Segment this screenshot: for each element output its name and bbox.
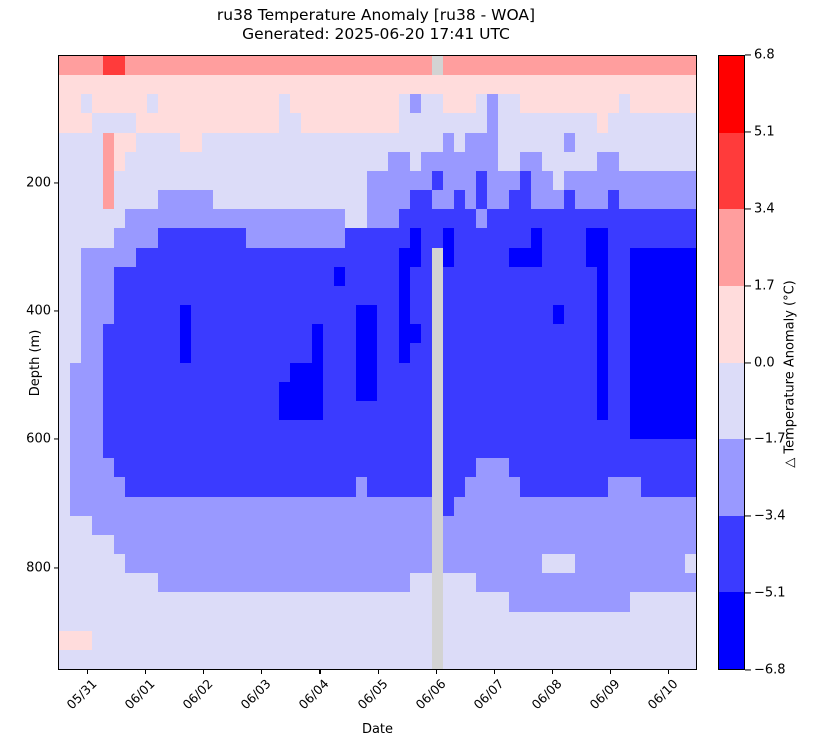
heatmap-cell	[114, 554, 125, 573]
heatmap-cell	[59, 477, 70, 496]
heatmap-cell	[180, 305, 191, 324]
heatmap-cell	[509, 113, 520, 132]
heatmap-cell	[476, 420, 487, 439]
heatmap-cell	[268, 343, 279, 362]
heatmap-cell	[103, 75, 114, 94]
heatmap-cell	[103, 113, 114, 132]
heatmap-cell	[432, 267, 443, 286]
heatmap-cell	[202, 650, 213, 669]
heatmap-cell	[92, 612, 103, 631]
heatmap-cell	[564, 305, 575, 324]
colorbar-band	[719, 209, 744, 286]
heatmap-cell	[630, 248, 641, 267]
heatmap-cell	[597, 439, 608, 458]
heatmap-cell	[388, 152, 399, 171]
heatmap-cell	[619, 458, 630, 477]
heatmap-cell	[531, 171, 542, 190]
heatmap-cell	[268, 612, 279, 631]
heatmap-cell	[147, 363, 158, 382]
heatmap-cell	[586, 439, 597, 458]
heatmap-cell	[290, 209, 301, 228]
heatmap-cell	[619, 267, 630, 286]
heatmap-cell	[575, 190, 586, 209]
heatmap-cell	[388, 228, 399, 247]
heatmap-cell	[147, 228, 158, 247]
heatmap-cell	[70, 228, 81, 247]
heatmap-cell	[213, 209, 224, 228]
heatmap-cell	[586, 592, 597, 611]
heatmap-cell	[630, 286, 641, 305]
heatmap-cell	[619, 75, 630, 94]
heatmap-cell	[685, 382, 696, 401]
colorbar-band	[719, 286, 744, 363]
heatmap-cell	[191, 305, 202, 324]
heatmap-cell	[279, 477, 290, 496]
heatmap-cell	[323, 267, 334, 286]
heatmap-cell	[356, 382, 367, 401]
heatmap-cell	[301, 209, 312, 228]
heatmap-cell	[158, 382, 169, 401]
heatmap-cell	[224, 477, 235, 496]
heatmap-cell	[279, 75, 290, 94]
heatmap-cell	[608, 113, 619, 132]
heatmap-cell	[674, 305, 685, 324]
heatmap-cell	[257, 152, 268, 171]
heatmap-cell	[575, 420, 586, 439]
heatmap-cell	[685, 209, 696, 228]
heatmap-cell	[136, 324, 147, 343]
x-tick-mark	[145, 670, 146, 674]
heatmap-cell	[663, 458, 674, 477]
heatmap-cell	[619, 439, 630, 458]
heatmap-cell	[246, 94, 257, 113]
heatmap-cell	[301, 94, 312, 113]
heatmap-cell	[608, 420, 619, 439]
heatmap-cell	[334, 363, 345, 382]
heatmap-cell	[564, 209, 575, 228]
heatmap-cell	[257, 497, 268, 516]
heatmap-cell	[279, 439, 290, 458]
heatmap-cell	[421, 209, 432, 228]
heatmap-cell	[257, 363, 268, 382]
heatmap-cell	[191, 535, 202, 554]
heatmap-cell	[279, 363, 290, 382]
heatmap-cell	[443, 305, 454, 324]
heatmap-cell	[356, 75, 367, 94]
heatmap-cell	[608, 75, 619, 94]
heatmap-cell	[652, 343, 663, 362]
heatmap-cell	[70, 56, 81, 75]
heatmap-cell	[487, 305, 498, 324]
heatmap-cell	[520, 573, 531, 592]
heatmap-cell	[498, 343, 509, 362]
heatmap-cell	[630, 113, 641, 132]
heatmap-cell	[345, 133, 356, 152]
heatmap-cell	[553, 592, 564, 611]
x-tick-label: 06/08	[521, 676, 564, 719]
heatmap-cell	[301, 612, 312, 631]
heatmap-cell	[421, 458, 432, 477]
heatmap-cell	[586, 420, 597, 439]
heatmap-cell	[191, 477, 202, 496]
heatmap-cell	[498, 228, 509, 247]
heatmap-cell	[586, 286, 597, 305]
heatmap-cell	[575, 458, 586, 477]
heatmap-cell	[652, 75, 663, 94]
heatmap-cell	[454, 650, 465, 669]
heatmap-cell	[246, 267, 257, 286]
heatmap-cell	[70, 267, 81, 286]
heatmap-cell	[388, 209, 399, 228]
heatmap-cell	[674, 401, 685, 420]
heatmap-cell	[509, 56, 520, 75]
heatmap-cell	[388, 592, 399, 611]
heatmap-cell	[641, 343, 652, 362]
heatmap-cell	[608, 573, 619, 592]
heatmap-cell	[345, 190, 356, 209]
heatmap-cell	[92, 286, 103, 305]
heatmap-cell	[81, 420, 92, 439]
heatmap-cell	[268, 75, 279, 94]
colorbar-tick-mark	[745, 516, 751, 517]
heatmap-cell	[586, 535, 597, 554]
colorbar-tick-mark	[745, 669, 751, 670]
heatmap-cell	[498, 497, 509, 516]
heatmap-cell	[268, 573, 279, 592]
heatmap-cell	[169, 401, 180, 420]
heatmap-cell	[564, 631, 575, 650]
heatmap-cell	[180, 324, 191, 343]
heatmap-cell	[224, 554, 235, 573]
heatmap-cell	[608, 209, 619, 228]
heatmap-cell	[575, 612, 586, 631]
heatmap-cell	[377, 75, 388, 94]
heatmap-cell	[257, 382, 268, 401]
x-tick-mark	[378, 670, 379, 674]
heatmap-cell	[356, 592, 367, 611]
heatmap-cell	[169, 56, 180, 75]
heatmap-cell	[235, 554, 246, 573]
heatmap-cell	[103, 382, 114, 401]
heatmap-cell	[312, 573, 323, 592]
heatmap-cell	[147, 56, 158, 75]
heatmap-cell	[564, 554, 575, 573]
heatmap-cell	[169, 439, 180, 458]
heatmap-cell	[191, 631, 202, 650]
heatmap-cell	[663, 190, 674, 209]
heatmap-cell	[641, 133, 652, 152]
heatmap-cell	[421, 363, 432, 382]
heatmap-cell	[597, 516, 608, 535]
heatmap-cell	[312, 324, 323, 343]
heatmap-cell	[202, 209, 213, 228]
heatmap-cell	[257, 75, 268, 94]
heatmap-cell	[81, 248, 92, 267]
heatmap-cell	[356, 228, 367, 247]
heatmap-cell	[356, 267, 367, 286]
colorbar-band	[719, 516, 744, 593]
heatmap-cell	[158, 477, 169, 496]
heatmap-cell	[487, 75, 498, 94]
heatmap-cell	[345, 75, 356, 94]
heatmap-cell	[213, 94, 224, 113]
heatmap-cell	[356, 439, 367, 458]
heatmap-cell	[377, 228, 388, 247]
heatmap-cell	[257, 113, 268, 132]
heatmap-cell	[564, 267, 575, 286]
colorbar[interactable]	[718, 55, 745, 670]
heatmap-cell	[476, 477, 487, 496]
heatmap-cell	[114, 458, 125, 477]
heatmap-cell	[377, 439, 388, 458]
heatmap-cell	[421, 420, 432, 439]
heatmap-cell	[652, 286, 663, 305]
heatmap-cell	[487, 171, 498, 190]
heatmap-cell	[367, 190, 378, 209]
heatmap-cell	[125, 152, 136, 171]
heatmap-cell	[564, 497, 575, 516]
heatmap-cell	[641, 477, 652, 496]
heatmap-cell	[520, 420, 531, 439]
colorbar-tick-label: 5.1	[754, 124, 775, 139]
heatmap-cell	[674, 420, 685, 439]
heatmap-cell	[301, 305, 312, 324]
heatmap-cell	[356, 171, 367, 190]
heatmap-cell	[279, 228, 290, 247]
heatmap-cell	[367, 56, 378, 75]
heatmap-cell	[345, 56, 356, 75]
heatmap-cell	[180, 56, 191, 75]
heatmap-cell	[70, 612, 81, 631]
heatmap-cell	[59, 324, 70, 343]
heatmap-cell	[356, 363, 367, 382]
heatmap-cell	[235, 267, 246, 286]
heatmap-cell	[312, 133, 323, 152]
heatmap-cell	[268, 650, 279, 669]
heatmap-cell	[114, 113, 125, 132]
heatmap-cell	[641, 56, 652, 75]
heatmap-cell	[279, 267, 290, 286]
heatmap-cell	[279, 209, 290, 228]
heatmap-cell	[290, 592, 301, 611]
heatmap-cell	[268, 535, 279, 554]
heatmap-cell	[520, 439, 531, 458]
heatmap-cell	[202, 171, 213, 190]
heatmap-cell	[630, 133, 641, 152]
heatmap-cell	[564, 248, 575, 267]
heatmap-cell	[224, 171, 235, 190]
heatmap-cell	[575, 382, 586, 401]
heatmap-cell	[81, 113, 92, 132]
heatmap-cell	[443, 267, 454, 286]
heatmap-cell	[377, 267, 388, 286]
heatmap-cell	[345, 458, 356, 477]
heatmap-cell	[191, 75, 202, 94]
heatmap-cell	[652, 612, 663, 631]
heatmap-cell	[268, 439, 279, 458]
heatmap-cell	[367, 535, 378, 554]
heatmap-cell	[158, 171, 169, 190]
heatmap-cell	[421, 554, 432, 573]
heatmap-cell	[59, 497, 70, 516]
heatmap-cell	[465, 650, 476, 669]
heatmap-cell	[356, 401, 367, 420]
heatmap-cell	[663, 248, 674, 267]
heatmap-cell	[345, 94, 356, 113]
heatmap-cell	[652, 592, 663, 611]
heatmap-cell	[641, 382, 652, 401]
heatmap-cell	[158, 535, 169, 554]
heatmap-cell	[114, 401, 125, 420]
heatmap-cell	[608, 171, 619, 190]
heatmap-cell	[169, 631, 180, 650]
heatmap-cell	[103, 573, 114, 592]
heatmap-cell	[169, 477, 180, 496]
heatmap-cell	[630, 631, 641, 650]
heatmap-cell	[553, 420, 564, 439]
heatmap-cell	[136, 363, 147, 382]
heatmap-cell	[487, 248, 498, 267]
heatmap-cell	[685, 439, 696, 458]
heatmap-cell	[432, 56, 443, 75]
heatmap-cell	[180, 631, 191, 650]
heatmap-cell	[147, 305, 158, 324]
heatmap-cell	[235, 477, 246, 496]
heatmap-cell	[377, 592, 388, 611]
heatmap-cell	[345, 248, 356, 267]
heatmap-cell	[487, 631, 498, 650]
heatmap-cell	[301, 382, 312, 401]
y-tick-label: 400	[5, 304, 51, 319]
heatmap-cell	[224, 56, 235, 75]
heatmap-cell	[180, 267, 191, 286]
heatmap-cell	[465, 75, 476, 94]
heatmap-cell	[663, 286, 674, 305]
heatmap-cell	[520, 631, 531, 650]
heatmap-cell	[421, 286, 432, 305]
heatmap-cell	[520, 286, 531, 305]
heatmap-cell	[323, 343, 334, 362]
heatmap-cell	[542, 382, 553, 401]
heatmap-cell	[125, 94, 136, 113]
heatmap-cell	[279, 612, 290, 631]
heatmap-cell	[367, 343, 378, 362]
heatmap-cell	[191, 458, 202, 477]
heatmap-cell	[498, 631, 509, 650]
heatmap-cell	[235, 248, 246, 267]
heatmap-cell	[158, 209, 169, 228]
heatmap-cell	[290, 324, 301, 343]
heatmap-cell	[531, 248, 542, 267]
heatmap-cell	[81, 75, 92, 94]
heatmap-cell	[246, 209, 257, 228]
heatmap-cell	[509, 516, 520, 535]
heatmap-cell	[520, 248, 531, 267]
heatmap-cell	[345, 477, 356, 496]
heatmap-cell	[388, 343, 399, 362]
heatmap-cell	[125, 324, 136, 343]
x-tick-label: 06/07	[463, 676, 506, 719]
heatmap-cell	[213, 420, 224, 439]
heatmap-cell	[630, 152, 641, 171]
heatmap-cell	[674, 439, 685, 458]
heatmap-cell	[564, 171, 575, 190]
heatmap-cell	[498, 267, 509, 286]
heatmap-cell	[114, 650, 125, 669]
heatmap-cell	[597, 343, 608, 362]
heatmap-cell	[290, 535, 301, 554]
heatmap-cell	[323, 477, 334, 496]
heatmap-cell	[597, 152, 608, 171]
heatmap-cell	[641, 554, 652, 573]
heatmap-cell	[301, 477, 312, 496]
heatmap-cell	[432, 516, 443, 535]
heatmap-cell	[443, 171, 454, 190]
heatmap-cell	[674, 133, 685, 152]
heatmap-cell	[81, 592, 92, 611]
heatmap-cell	[356, 535, 367, 554]
heatmap-cell	[619, 420, 630, 439]
heatmap-cell	[531, 439, 542, 458]
heatmap-cell	[224, 305, 235, 324]
heatmap-cell	[410, 209, 421, 228]
heatmap-cell	[92, 190, 103, 209]
heatmap-cell	[685, 133, 696, 152]
heatmap-cell	[345, 171, 356, 190]
heatmap-cell	[301, 56, 312, 75]
heatmap-cell	[224, 324, 235, 343]
heatmap-cell	[575, 152, 586, 171]
heatmap-cell	[399, 113, 410, 132]
heatmap-cell	[487, 382, 498, 401]
heatmap-cell	[410, 535, 421, 554]
heatmap-cell	[388, 439, 399, 458]
heatmap-cell	[246, 113, 257, 132]
heatmap-cell	[487, 497, 498, 516]
heatmap-cell	[498, 439, 509, 458]
heatmap-cell	[553, 171, 564, 190]
heatmap-cell	[301, 248, 312, 267]
heatmap-cell	[652, 113, 663, 132]
heatmap-cell	[345, 113, 356, 132]
heatmap-cell	[180, 612, 191, 631]
heatmap-cell	[619, 497, 630, 516]
heatmap-cell	[279, 631, 290, 650]
heatmap-cell	[235, 94, 246, 113]
heatmap-cell	[465, 631, 476, 650]
heatmap-cell	[476, 152, 487, 171]
heatmap-cell	[443, 650, 454, 669]
heatmap-cell	[520, 650, 531, 669]
heatmap-cell	[531, 343, 542, 362]
heatmap-cell	[674, 190, 685, 209]
heatmap-cell	[674, 631, 685, 650]
heatmap-cell	[323, 324, 334, 343]
heatmap-cell	[279, 343, 290, 362]
heatmap-cell	[586, 324, 597, 343]
heatmap-cell	[542, 209, 553, 228]
heatmap-cell	[465, 516, 476, 535]
heatmap-cell	[345, 382, 356, 401]
heatmap-cell	[92, 477, 103, 496]
heatmap-cell	[158, 94, 169, 113]
heatmap-cell	[334, 631, 345, 650]
heatmap-axes[interactable]	[58, 55, 697, 670]
heatmap-cell	[564, 439, 575, 458]
heatmap-cell	[59, 209, 70, 228]
heatmap-cell	[465, 401, 476, 420]
heatmap-cell	[509, 248, 520, 267]
